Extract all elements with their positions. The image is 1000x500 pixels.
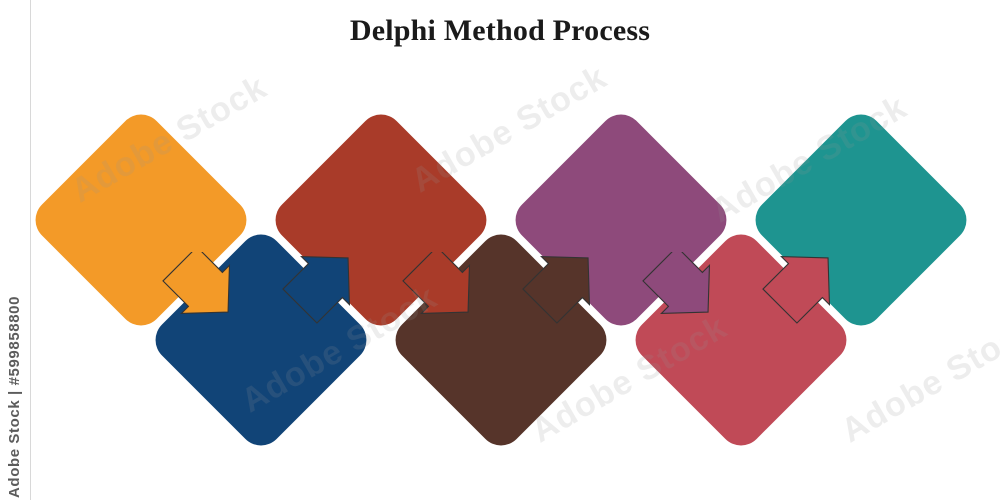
adobe-stock-watermark: Adobe Stock | #599858800 [6, 238, 23, 498]
connector-arrow-3-4 [400, 252, 510, 344]
connector-arrow-6-7 [760, 246, 870, 342]
connector-arrow-1-2 [160, 252, 270, 344]
page-title: Delphi Method Process [0, 14, 1000, 48]
connector-arrow-5-6 [640, 252, 750, 344]
connector-arrow-2-3 [280, 246, 390, 342]
infographic-canvas: Delphi Method Process Adobe Stock | #599… [0, 0, 1000, 500]
connector-arrow-4-5 [520, 246, 630, 342]
watermark-divider [30, 0, 31, 500]
